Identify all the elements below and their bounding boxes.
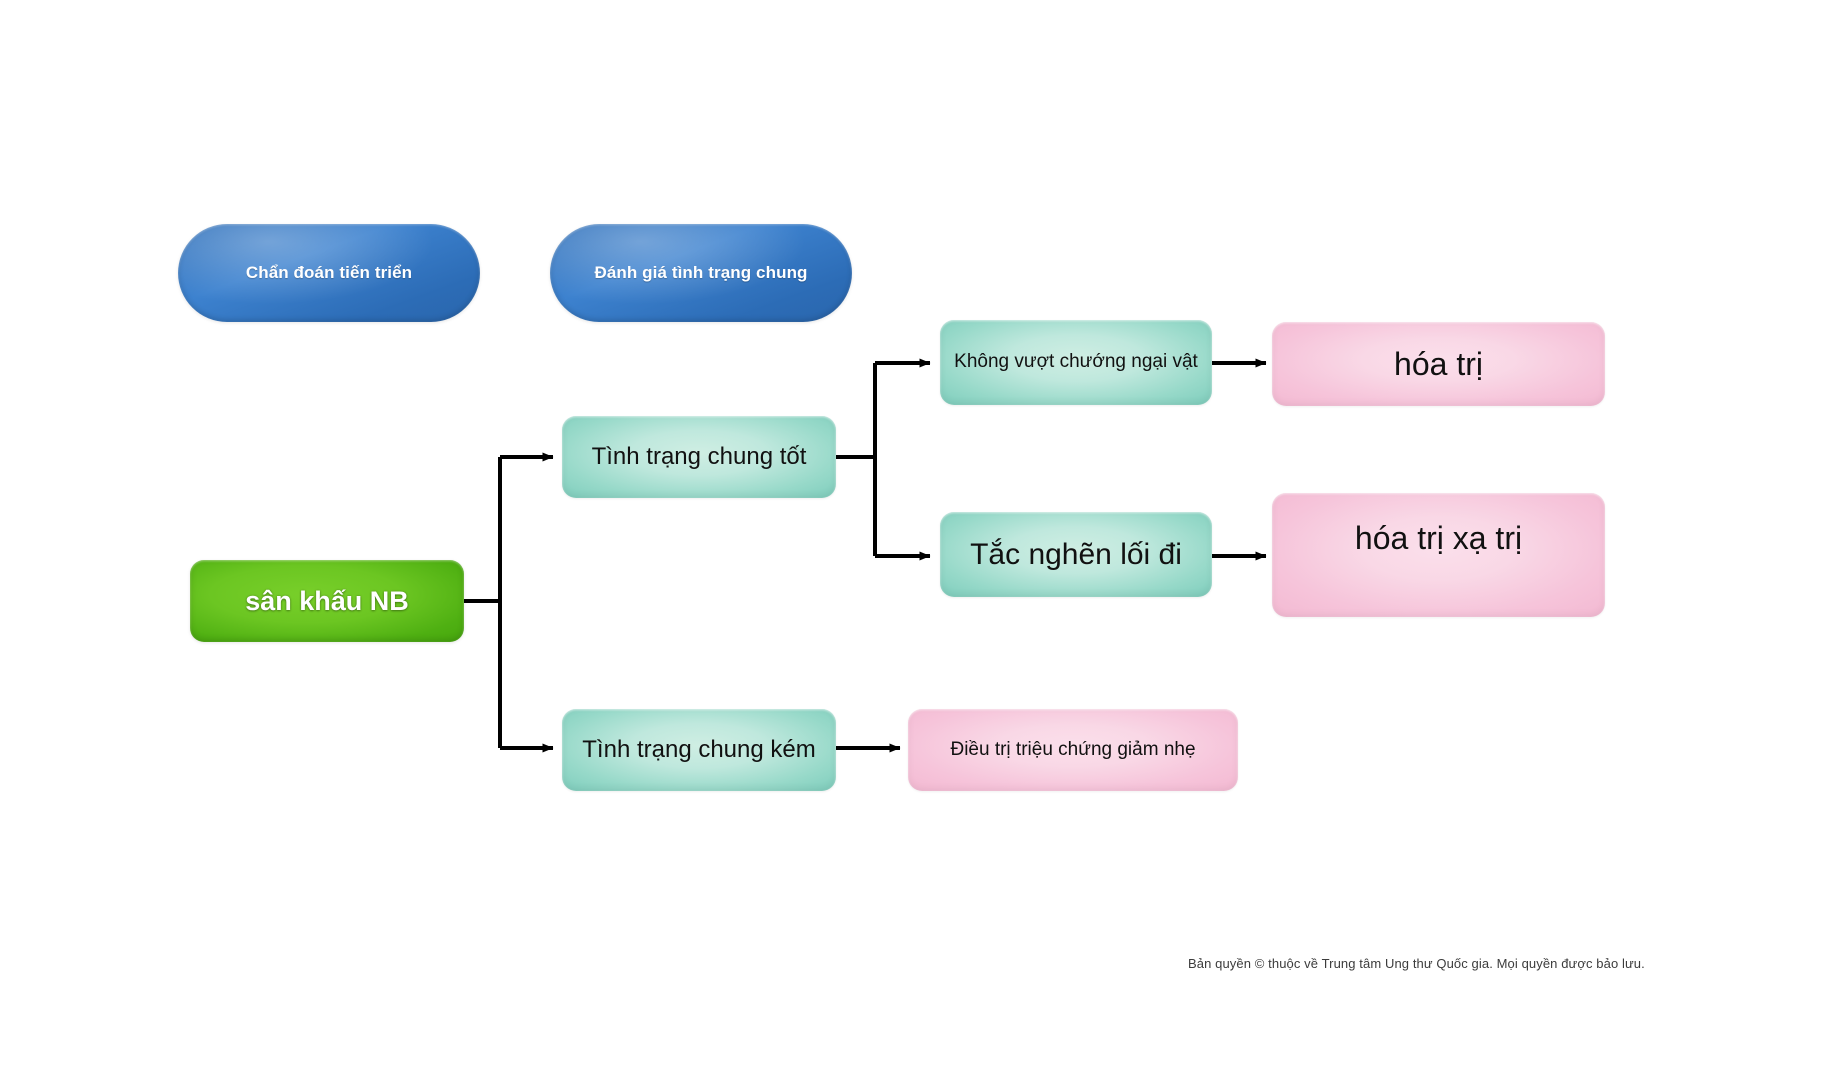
legend-general-status-label: Đánh giá tình trạng chung xyxy=(594,263,807,283)
copyright-footer: Bản quyền © thuộc về Trung tâm Ung thư Q… xyxy=(1188,956,1645,971)
poor-general-status-label: Tình trạng chung kém xyxy=(582,736,815,765)
legend-progression-label: Chẩn đoán tiến triển xyxy=(246,263,412,283)
stage-nb-node[interactable]: sân khấu NB xyxy=(190,560,464,642)
chemoradiotherapy-node[interactable]: hóa trị xạ trị xyxy=(1272,493,1605,617)
good-general-status-node[interactable]: Tình trạng chung tốt xyxy=(562,416,836,498)
chemotherapy-node[interactable]: hóa trị xyxy=(1272,322,1605,406)
palliative-care-node[interactable]: Điều trị triệu chứng giảm nhẹ xyxy=(908,709,1238,791)
no-obstruction-node[interactable]: Không vượt chướng ngại vật xyxy=(940,320,1212,405)
copyright-text: Bản quyền © thuộc về Trung tâm Ung thư Q… xyxy=(1188,956,1645,971)
passage-obstruction-node[interactable]: Tắc nghẽn lối đi xyxy=(940,512,1212,597)
stage-nb-label: sân khấu NB xyxy=(245,585,409,617)
legend-general-status-node[interactable]: Đánh giá tình trạng chung xyxy=(550,224,852,322)
no-obstruction-label: Không vượt chướng ngại vật xyxy=(954,351,1198,374)
palliative-care-label: Điều trị triệu chứng giảm nhẹ xyxy=(950,739,1195,762)
passage-obstruction-label: Tắc nghẽn lối đi xyxy=(970,537,1182,573)
chemoradiotherapy-label: hóa trị xạ trị xyxy=(1355,519,1522,557)
poor-general-status-node[interactable]: Tình trạng chung kém xyxy=(562,709,836,791)
legend-progression-node[interactable]: Chẩn đoán tiến triển xyxy=(178,224,480,322)
diagram-canvas: Chẩn đoán tiến triển Đánh giá tình trạng… xyxy=(0,0,1832,1091)
good-general-status-label: Tình trạng chung tốt xyxy=(592,443,807,472)
chemotherapy-label: hóa trị xyxy=(1394,345,1483,383)
